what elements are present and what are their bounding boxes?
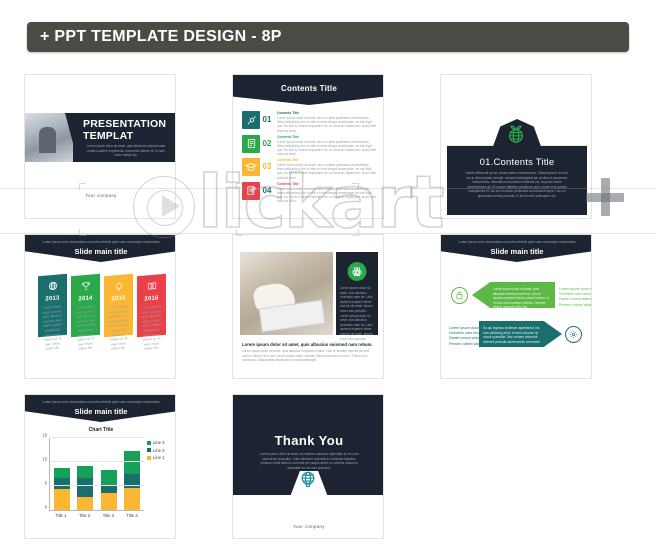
bullet-item: Daniel consul viderer uenim [559,297,592,302]
chart-bar-segment [124,451,140,474]
photo-side-body: Lorem ipsum dolor sit amet, eos albucius… [340,286,374,341]
chart-bar-segment [77,478,93,497]
chart-legend-swatch [147,448,151,452]
lock-circle-icon [451,287,468,304]
chart-x-tick: Title 1 [49,513,73,518]
chart-x-tick: Title 4 [120,513,144,518]
arrows-heading: Slide main title [441,247,592,256]
cover-company-label: Your company [25,193,176,198]
arrow-bullets-right: Lorem ipsum dolor sit amet Viverdum nam … [559,287,592,308]
photo-side-dark-box: Lorem ipsum dolor sit amet, eos albucius… [336,252,378,335]
list-item-title: Contents Title [277,111,378,115]
panel-body: Lorem ipsum dolor sit amet, quis albuciu… [38,304,67,352]
green-arrow-text: Lorem ipsum dolor sit amet, quis albuciu… [493,287,551,310]
chart-bar-segment [77,466,93,478]
page-title: + PPT TEMPLATE DESIGN - 8P [40,28,282,46]
divider-title: 01.Contents Title [441,157,592,168]
panel-year: 2016 [137,295,166,304]
list-item-title: Contents Title [277,135,378,139]
slide-thumbnail-thank-you[interactable]: Thank You Lorem ipsum dolor sit amet, vi… [232,394,384,539]
chart-bar-segment [101,470,117,486]
globe-icon [38,280,67,295]
graduation-cap-icon [242,158,260,176]
bar-chart: Chart Title 051015 Title 1Title 2Title 3… [29,427,173,535]
chart-bar [77,466,93,510]
photo-caption-title: Lorem ipsum dolor sit amet, quis albuciu… [242,342,376,347]
clipboard-pen-icon [242,182,260,200]
slide-thumbnail-arrows[interactable]: Lorem ipsum dolor sit ametenec sit autem… [440,234,592,379]
panel-group: 2013 Lorem ipsum dolor sit amet, quis al… [38,275,166,336]
chart-heading: Slide main title [25,407,176,416]
teal-arrow-text: Ea qui legimus incitesse appellantur, hi… [483,326,541,344]
green-globe-icon [505,123,527,145]
trophy-icon [71,280,100,295]
panel-2013[interactable]: 2013 Lorem ipsum dolor sit amet, quis al… [38,274,67,338]
list-item[interactable]: 01 Contents Title Lorem ipsum dolor sit … [242,111,378,129]
list-item-number: 04 [260,186,274,195]
chart-bar-segment [124,488,140,510]
chart-x-labels: Title 1Title 2Title 3Title 4 [49,513,144,518]
list-item[interactable]: 02 Contents Title Lorem ipsum dolor sit … [242,135,378,153]
book-icon [137,280,166,295]
chart-legend-item: Line 2 [147,448,164,453]
list-item[interactable]: 04 Contents Title Lorem ipsum dolor sit … [242,182,378,200]
chart-gridline [50,437,144,438]
chart-x-tick: Title 2 [73,513,97,518]
document-icon [242,135,260,153]
list-item-text: Contents Title Lorem ipsum dolor sit ame… [274,158,378,180]
chart-bar-segment [54,489,70,510]
list-item-text: Contents Title Lorem ipsum dolor sit ame… [274,111,378,133]
chart-y-tick: 5 [45,481,49,486]
list-item-number: 02 [260,139,274,148]
list-item-text: Contents Title Lorem ipsum dolor sit ame… [274,182,378,204]
chart-bar-segment [77,497,93,510]
slide-thumbnail-chart[interactable]: Lorem ipsum dolor sit ametenec sit autem… [24,394,176,539]
panel-2016[interactable]: 2016 Lorem ipsum dolor sit amet, quis al… [137,274,166,338]
chart-plot-area: 051015 [49,438,144,511]
chart-bars [50,438,144,510]
slide-thumbnail-contents[interactable]: Contents Title 01 Contents Title Lorem i… [232,74,384,219]
slide-thumbnail-section-divider[interactable]: 01.Contents Title Habeo efficiendi qui a… [440,74,592,219]
chart-legend-swatch [147,441,151,445]
gear-circle-icon [565,326,582,343]
panel-year: 2015 [104,295,133,304]
header-bar: + PPT TEMPLATE DESIGN - 8P [27,22,629,52]
slide-grid: PRESENTATION TEMPLAT Lorem ipsum dolor s… [24,74,632,554]
lightbulb-icon [104,280,133,295]
arrows-subtext: Lorem ipsum dolor sit ametenec sit autem… [457,240,577,245]
thankyou-title: Thank You [233,433,384,448]
chart-gridline [50,461,144,462]
photo-caption: Lorem ipsum dolor sit amet, quis albuciu… [242,342,376,363]
panel-body: Lorem ipsum dolor sit amet, quis albuciu… [104,304,133,352]
list-item-title: Contents Title [277,182,378,186]
bullet-item: Persein viderei albaruit eium [559,303,592,308]
chart-legend-item: Line 3 [147,440,164,445]
contents-item-list: 01 Contents Title Lorem ipsum dolor sit … [242,111,378,205]
chart-bar-segment [54,468,70,478]
chart-subtext: Lorem ipsum dolor sit ametenec sit autem… [41,400,161,405]
chart-legend-label: Line 1 [153,455,164,460]
list-item-body: Lorem ipsum dolor sit amet, sea cu latin… [277,187,378,204]
teal-globe-icon [298,469,318,489]
slide-thumbnail-photo-text[interactable]: Lorem ipsum dolor sit amet, eos albucius… [232,234,384,379]
thankyou-company-label: Your company [233,524,384,529]
chart-bar-segment [101,493,117,510]
chart-gridline [50,485,144,486]
list-item-number: 01 [260,115,274,124]
chart-bar [101,470,117,510]
laptop-typing-photo [240,252,333,335]
slide-row-1: PRESENTATION TEMPLAT Lorem ipsum dolor s… [24,74,632,219]
list-item-text: Contents Title Lorem ipsum dolor sit ame… [274,135,378,157]
cover-title-line1: PRESENTATION [83,119,171,131]
chart-y-tick: 15 [42,433,49,438]
cover-wedge [65,113,78,162]
panels-subtext: Lorem ipsum dolor sit ametenec sit autem… [41,240,161,245]
chart-legend-label: Line 3 [153,440,164,445]
contents-heading: Contents Title [233,84,384,93]
thankyou-body: Lorem ipsum dolor sit amet, vix ceteros … [257,452,361,470]
page-root: + PPT TEMPLATE DESIGN - 8P PRESENTATION … [0,0,656,554]
panel-2015[interactable]: 2015 Lorem ipsum dolor sit amet, quis al… [104,274,133,338]
list-item[interactable]: 03 Contents Title Lorem ipsum dolor sit … [242,158,378,176]
chart-x-tick: Title 3 [97,513,121,518]
panel-year: 2014 [71,295,100,304]
list-item-body: Lorem ipsum dolor sit amet, sea cu latin… [277,163,378,180]
chart-legend-label: Line 2 [153,448,164,453]
chart-legend-item: Line 1 [147,455,164,460]
panel-year: 2013 [38,295,67,304]
chart-y-tick: 10 [42,457,49,462]
cover-title-line2: TEMPLAT [83,131,171,143]
chart-bar-segment [54,478,70,489]
building-blocks-icon [348,262,367,281]
list-item-number: 03 [260,162,274,171]
chart-bar [54,468,70,510]
chart-bar-segment [101,485,117,493]
slide-row-3: Lorem ipsum dolor sit ametenec sit autem… [24,394,632,539]
satellite-dish-icon [242,111,260,129]
list-item-body: Lorem ipsum dolor sit amet, sea cu latin… [277,116,378,133]
panel-body: Lorem ipsum dolor sit amet, quis albuciu… [137,304,166,352]
photo-caption-body: Lorem ipsum dolor sit amet, quis albuciu… [242,349,376,363]
chart-bar [124,451,140,510]
panel-body: Lorem ipsum dolor sit amet, quis albuciu… [71,304,100,352]
slide-row-2: Lorem ipsum dolor sit ametenec sit autem… [24,234,632,379]
divider-body-text: Habeo efficiendi qui at, solum autem ess… [465,171,569,199]
list-item-title: Contents Title [277,158,378,162]
slide-thumbnail-cover[interactable]: PRESENTATION TEMPLAT Lorem ipsum dolor s… [24,74,176,219]
cover-subtext: Lorem ipsum dolor sit amet, quis albuciu… [83,144,169,158]
cover-title: PRESENTATION TEMPLAT [83,119,171,142]
chart-title: Chart Title [29,427,173,433]
chart-legend-swatch [147,456,151,460]
panels-heading: Slide main title [25,247,176,256]
slide-thumbnail-timeline-panels[interactable]: Lorem ipsum dolor sit ametenec sit autem… [24,234,176,379]
list-item-body: Lorem ipsum dolor sit amet, sea cu latin… [277,140,378,157]
chart-legend: Line 3Line 2Line 1 [147,440,164,463]
chart-y-tick: 0 [45,505,49,510]
panel-2014[interactable]: 2014 Lorem ipsum dolor sit amet, quis al… [71,274,100,338]
